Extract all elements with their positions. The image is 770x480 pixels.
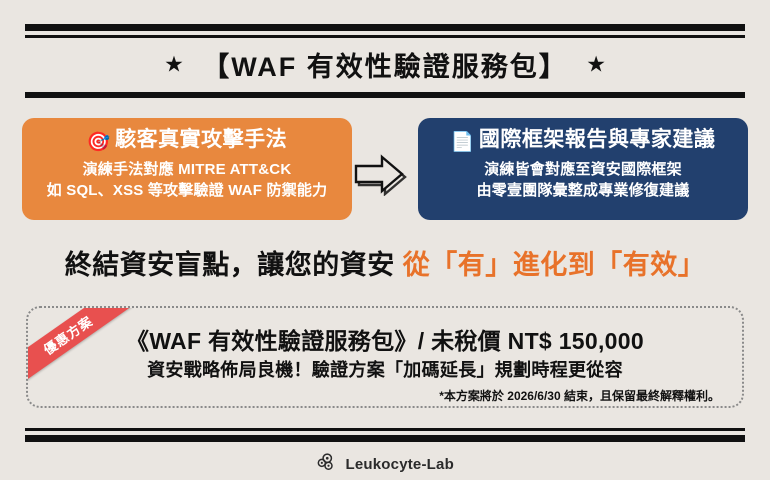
offer-subtitle: 資安戰略佈局良機！驗證方案「加碼延長」規劃時程更從容 [28, 356, 742, 382]
bottom-rule-group [25, 428, 745, 442]
feature-card-report-heading: 📄國際框架報告與專家建議 [418, 127, 748, 155]
document-icon: 📄 [451, 132, 475, 153]
feature-card-report: 📄國際框架報告與專家建議 演練皆會對應至資安國際框架 由零壹團隊彙整成專業修復建… [418, 118, 748, 220]
brand-name: Leukocyte-Lab [345, 456, 453, 473]
offer-card: 優惠方案 《WAF 有效性驗證服務包》/ 未稅價 NT$ 150,000 資安戰… [26, 306, 744, 408]
promo-poster: ★ 【WAF 有效性驗證服務包】 ★ 🎯駭客真實攻擊手法 演練手法對應 MITR… [0, 0, 770, 480]
offer-title: 《WAF 有效性驗證服務包》/ 未稅價 NT$ 150,000 [28, 322, 742, 356]
feature-card-attack-heading-text: 駭客真實攻擊手法 [115, 128, 287, 151]
right-arrow-icon [352, 152, 412, 196]
bottom-rule-thick [25, 435, 745, 442]
feature-card-attack-heading: 🎯駭客真實攻擊手法 [22, 127, 352, 155]
page-title: ★ 【WAF 有效性驗證服務包】 ★ [0, 45, 770, 84]
feature-card-report-heading-text: 國際框架報告與專家建議 [479, 128, 716, 151]
feature-card-attack-line-2: 如 SQL、XSS 等攻擊驗證 WAF 防禦能力 [22, 181, 352, 202]
feature-card-report-line-2: 由零壹團隊彙整成專業修復建議 [418, 181, 748, 202]
top-rule-thick [25, 24, 745, 31]
tagline-dark-text: 終結資安盲點，讓您的資安 [65, 250, 395, 280]
offer-fine-print: *本方案將於 2026/6/30 結束，且保留最終解釋權利。 [439, 387, 720, 404]
feature-card-report-line-1: 演練皆會對應至資安國際框架 [418, 160, 748, 181]
tagline: 終結資安盲點，讓您的資安 從「有」進化到「有效」 [0, 243, 770, 282]
page-title-text: 【WAF 有效性驗證服務包】 [188, 52, 582, 82]
feature-card-attack-line-1: 演練手法對應 MITRE ATT&CK [22, 160, 352, 181]
star-right-icon: ★ [586, 52, 606, 77]
leukocyte-cell-logo [316, 452, 336, 477]
top-rule-thin [25, 35, 745, 38]
target-icon: 🎯 [87, 132, 111, 153]
star-left-icon: ★ [164, 52, 184, 77]
top-rule-group [25, 24, 745, 38]
title-underline-rule [25, 92, 745, 98]
footer: Leukocyte-Lab [0, 452, 770, 477]
feature-card-attack: 🎯駭客真實攻擊手法 演練手法對應 MITRE ATT&CK 如 SQL、XSS … [22, 118, 352, 220]
tagline-accent-text: 從「有」進化到「有效」 [403, 250, 706, 280]
